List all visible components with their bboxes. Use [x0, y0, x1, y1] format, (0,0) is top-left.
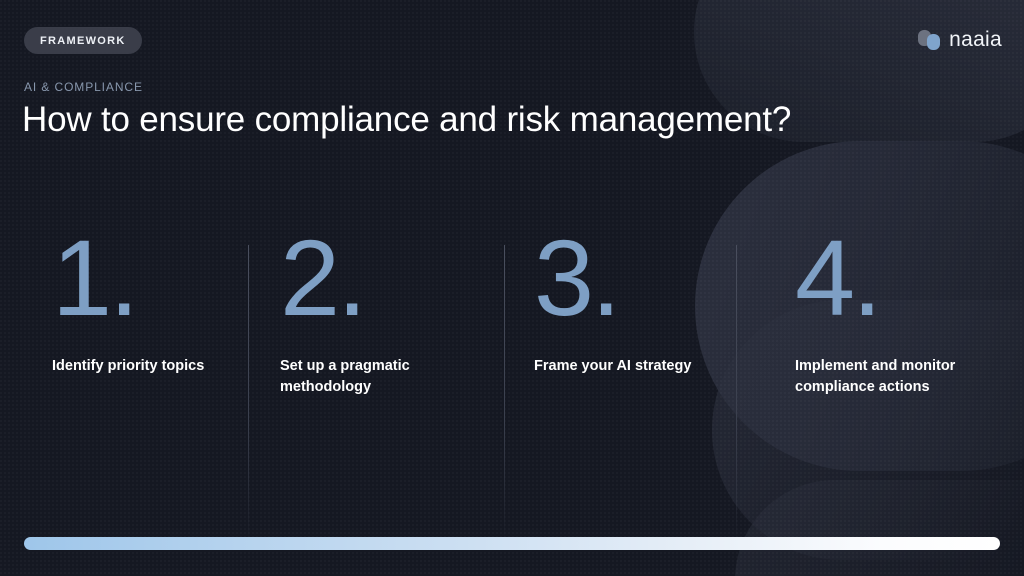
- slide-progress-bar[interactable]: [24, 537, 1000, 550]
- step-item-1: 1. Identify priority topics: [52, 228, 267, 377]
- step-number-4: 4.: [795, 228, 1010, 340]
- slide-root: FRAMEWORK naaia AI & COMPLIANCE How to e…: [0, 0, 1024, 576]
- framework-badge: FRAMEWORK: [24, 27, 142, 54]
- step-number-3: 3.: [534, 228, 749, 340]
- framework-badge-label: FRAMEWORK: [40, 35, 126, 47]
- steps-container: 1. Identify priority topics 2. Set up a …: [0, 228, 1024, 538]
- logo-wordmark: naaia: [949, 28, 1002, 52]
- logo-dot-blue-icon: [927, 34, 940, 50]
- slide-eyebrow: AI & COMPLIANCE: [24, 80, 143, 94]
- step-label-1: Identify priority topics: [52, 356, 242, 377]
- logo-marks: [918, 30, 942, 50]
- step-label-4: Implement and monitor compliance actions: [795, 356, 985, 398]
- step-label-2: Set up a pragmatic methodology: [280, 356, 470, 398]
- step-item-3: 3. Frame your AI strategy: [534, 228, 749, 377]
- step-item-4: 4. Implement and monitor compliance acti…: [795, 228, 1010, 398]
- page-title: How to ensure compliance and risk manage…: [22, 100, 791, 140]
- brand-logo: naaia: [918, 28, 1002, 52]
- step-number-2: 2.: [280, 228, 495, 340]
- step-divider-2: [504, 245, 505, 540]
- step-number-1: 1.: [52, 228, 267, 340]
- step-label-3: Frame your AI strategy: [534, 356, 724, 377]
- step-item-2: 2. Set up a pragmatic methodology: [280, 228, 495, 398]
